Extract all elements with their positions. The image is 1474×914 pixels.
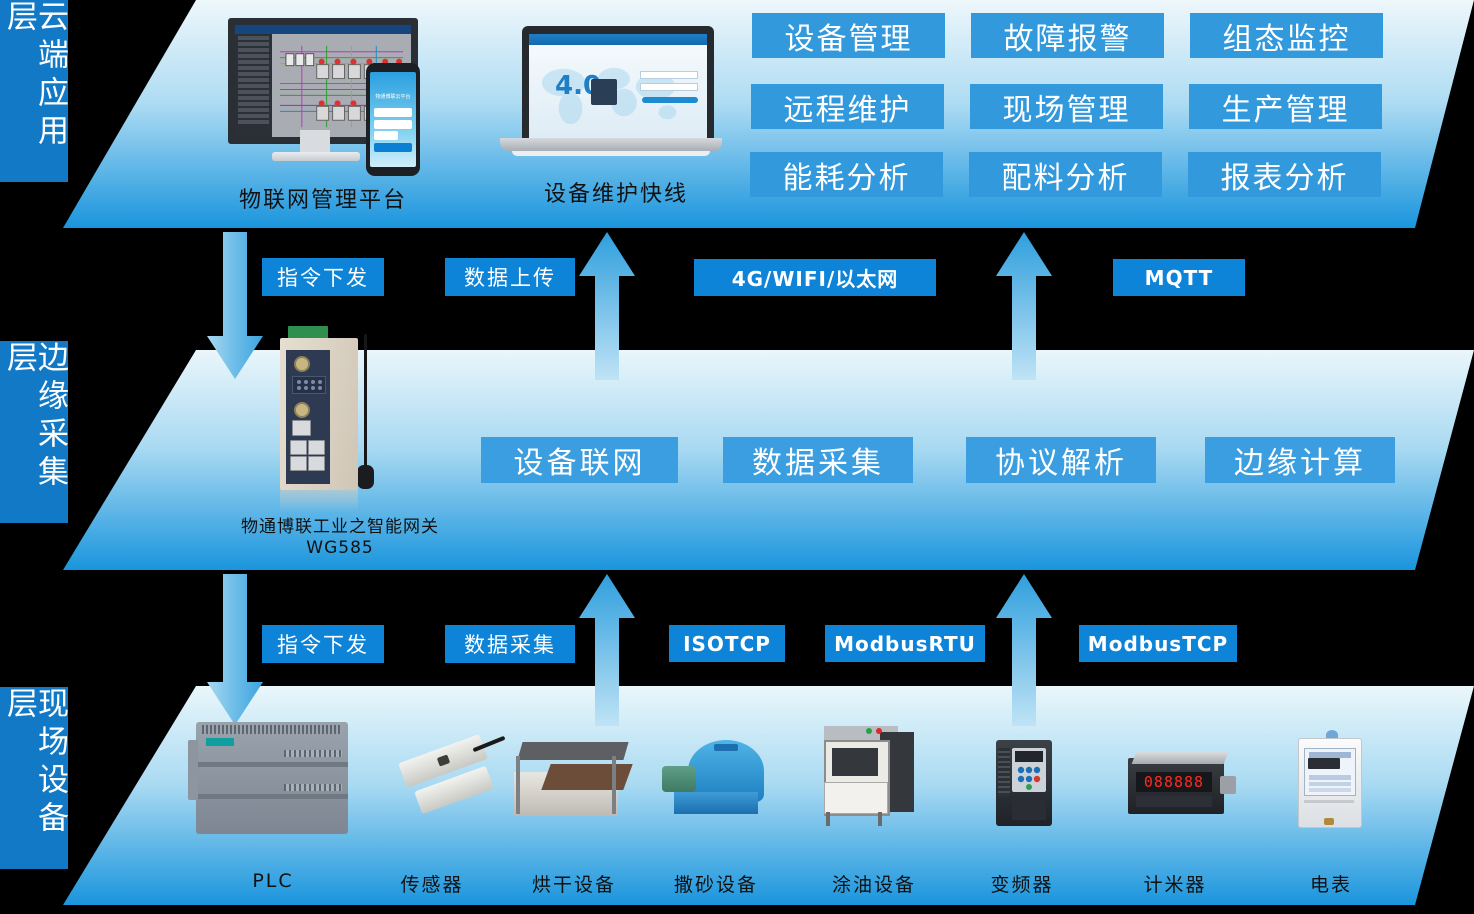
command-down-arrow-top: [206, 232, 264, 380]
field-device-label-counter: 计米器: [1112, 870, 1238, 897]
oiler-red-lamp: [876, 728, 882, 734]
plc-terminal-row-bottom: [284, 784, 342, 791]
gateway-reflection: [280, 490, 358, 512]
flow-label-mqtt[interactable]: MQTT: [1113, 259, 1245, 296]
oiler-lower-door: [824, 782, 888, 814]
command-down-arrow-bottom: [206, 574, 264, 726]
gateway-antenna: [364, 334, 367, 474]
data-up-arrow-top: [578, 232, 636, 380]
monitor-neck: [300, 130, 330, 154]
layer-tab-cloud-label: 云端应用层: [3, 0, 65, 182]
laptop-password-field[interactable]: [640, 83, 698, 91]
counter-top-face: [1132, 752, 1229, 764]
flow-label-command-down-top[interactable]: 指令下发: [262, 258, 384, 296]
monitor-sidebar: [235, 34, 272, 137]
field-device-label-power-meter: 电表: [1272, 870, 1390, 897]
monitor-titlebar: [235, 25, 411, 34]
gateway-sma-connector-top: [294, 356, 310, 372]
flow-label-data-collect[interactable]: 数据采集: [445, 625, 575, 663]
phone-captcha-field[interactable]: [374, 131, 397, 140]
oiler-inner-window: [832, 748, 878, 776]
laptop-screen: 4.0: [529, 34, 707, 146]
iot-platform-caption: 物联网管理平台: [208, 182, 438, 214]
laptop-base: [500, 138, 722, 151]
iot-platform-artwork: 物通博联云平台: [228, 18, 418, 178]
vfd-terminal-cover: [1012, 798, 1046, 820]
layer-tab-edge[interactable]: 边缘采集层: [0, 341, 68, 523]
dryer-leg-right: [612, 756, 616, 814]
edge-chip-3[interactable]: 边缘计算: [1205, 437, 1395, 483]
phone-user-field[interactable]: [374, 108, 412, 117]
edge-chip-1[interactable]: 数据采集: [723, 437, 913, 483]
sander-base: [674, 792, 758, 814]
collect-up-arrow-bottom: [578, 574, 636, 726]
vfd-keypad: [1012, 748, 1046, 792]
power-meter-faceplate: [1304, 748, 1356, 796]
mobile-app-phone: 物通博联云平台: [366, 63, 420, 176]
phone-screen: 物通博联云平台: [370, 72, 416, 167]
laptop-login-page: 4.0: [529, 45, 707, 146]
vfd-heatsink: [998, 748, 1010, 796]
function-chip-4[interactable]: 现场管理: [970, 84, 1163, 129]
plc-vent: [202, 725, 342, 734]
layer-tab-edge-label: 边缘采集层: [3, 341, 65, 523]
counter-rear-connector: [1220, 776, 1236, 794]
function-chip-0[interactable]: 设备管理: [752, 13, 945, 58]
counter-led-display: 088888: [1136, 772, 1212, 792]
oiler-artwork: [818, 722, 928, 832]
flow-label-command-down-bottom[interactable]: 指令下发: [262, 625, 384, 663]
maintenance-express-caption: 设备维护快线: [500, 176, 732, 208]
field-device-label-plc: PLC: [190, 870, 356, 892]
plc-brand-logo: [206, 738, 234, 746]
function-chip-1[interactable]: 故障报警: [971, 13, 1164, 58]
vfd-artwork: [992, 740, 1062, 830]
function-chip-3[interactable]: 远程维护: [751, 84, 944, 129]
laptop-foot: [512, 151, 710, 156]
function-chip-2[interactable]: 组态监控: [1190, 13, 1383, 58]
laptop-hero-figure: [591, 79, 617, 105]
oiler-leg-right: [878, 812, 882, 826]
flow-label-isotcp[interactable]: ISOTCP: [669, 625, 785, 662]
plc-strip-1: [196, 762, 348, 767]
plc-side-connector: [188, 740, 198, 800]
function-chip-5[interactable]: 生产管理: [1189, 84, 1382, 129]
oiler-green-lamp: [866, 728, 872, 734]
laptop-app-header: [529, 34, 707, 45]
laptop-login-button[interactable]: [642, 97, 698, 103]
flow-label-network[interactable]: 4G/WIFI/以太网: [694, 259, 936, 296]
edge-chip-2[interactable]: 协议解析: [966, 437, 1156, 483]
laptop-user-field[interactable]: [640, 71, 698, 79]
gateway-artwork: [272, 310, 402, 510]
sander-lid-hatch: [714, 744, 738, 751]
phone-password-field[interactable]: [374, 120, 412, 129]
phone-login-button[interactable]: [374, 143, 412, 152]
dryer-conveyor-bed: [541, 764, 632, 790]
gateway-led-block: [292, 376, 326, 394]
monitor-base: [272, 152, 360, 161]
function-chip-6[interactable]: 能耗分析: [750, 152, 943, 197]
plc-artwork: [188, 722, 356, 840]
dryer-artwork: [508, 738, 634, 830]
modbustcp-up-arrow-bottom: [995, 574, 1053, 726]
sander-motor: [662, 766, 696, 792]
phone-app-title: 物通博联云平台: [370, 93, 416, 100]
counter-button-row[interactable]: [1136, 796, 1212, 807]
gateway-lan-port-1: [290, 440, 307, 455]
power-meter-digits: [1308, 758, 1340, 769]
dryer-leg-left: [516, 756, 520, 814]
plc-terminal-row-top: [284, 750, 342, 757]
maintenance-express-artwork: 4.0: [500, 26, 732, 176]
plc-strip-2: [196, 794, 348, 799]
field-device-label-vfd: 变频器: [962, 870, 1082, 897]
layer-tab-field[interactable]: 现场设备层: [0, 687, 68, 869]
gateway-lan-port-2: [308, 440, 325, 455]
field-device-label-sander: 撒砂设备: [652, 870, 780, 897]
mqtt-up-arrow-top: [995, 232, 1053, 380]
gateway-antenna-base: [357, 465, 374, 489]
field-device-label-oiler: 涂油设备: [810, 870, 938, 897]
gateway-caption-line2: WG585: [200, 538, 480, 558]
field-device-label-dryer: 烘干设备: [510, 870, 638, 897]
function-chip-7[interactable]: 配料分析: [969, 152, 1162, 197]
edge-chip-0[interactable]: 设备联网: [481, 437, 678, 483]
layer-tab-field-label: 现场设备层: [3, 687, 65, 869]
function-chip-8[interactable]: 报表分析: [1188, 152, 1381, 197]
counter-artwork: 088888: [1128, 752, 1238, 824]
gateway-wan-port: [292, 420, 311, 436]
sander-artwork: [660, 734, 782, 830]
flow-label-modbusrtu[interactable]: ModbusRTU: [825, 625, 985, 662]
flow-label-data-upload[interactable]: 数据上传: [445, 258, 575, 296]
sensor-artwork: [390, 740, 510, 830]
gateway-caption-line1: 物通博联工业之智能网关: [200, 512, 480, 537]
flow-label-modbustcp[interactable]: ModbusTCP: [1079, 625, 1237, 662]
gateway-lan-port-3: [290, 456, 307, 471]
power-meter-screw: [1324, 818, 1334, 825]
laptop-lid: 4.0: [522, 26, 714, 151]
architecture-diagram: 云端应用层 边缘采集层 现场设备层: [0, 0, 1474, 914]
gateway-lan-port-4: [308, 456, 325, 471]
gateway-sma-connector-bottom: [294, 402, 310, 418]
power-meter-artwork: [1290, 730, 1372, 834]
layer-tab-cloud[interactable]: 云端应用层: [0, 0, 68, 182]
oiler-leg-left: [826, 812, 830, 826]
field-device-label-sensor: 传感器: [372, 870, 492, 897]
power-meter-seam: [1304, 800, 1354, 803]
